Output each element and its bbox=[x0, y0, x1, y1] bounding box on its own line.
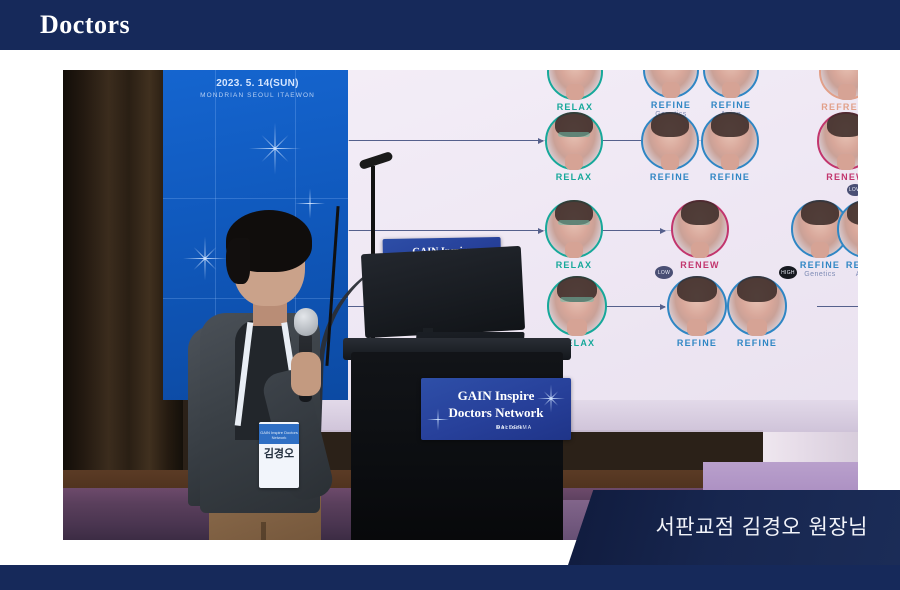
top-navy-bar: Doctors bbox=[0, 0, 900, 50]
sparkle-icon bbox=[249, 122, 301, 174]
slide-node-label: RENEW bbox=[817, 172, 858, 182]
node-band bbox=[558, 132, 590, 137]
speaker-hand bbox=[291, 352, 321, 396]
node-neck bbox=[565, 242, 583, 258]
slide-node-label: REFINE bbox=[703, 100, 759, 110]
slide-node bbox=[667, 276, 727, 336]
node-hair bbox=[827, 112, 858, 137]
caption-text: 서판교점 김경오 원장님 bbox=[655, 510, 868, 544]
slide-arrow bbox=[349, 230, 543, 231]
node-neck bbox=[838, 84, 856, 100]
node-neck bbox=[722, 82, 740, 98]
sparkle-icon bbox=[537, 384, 565, 412]
page-root: Doctors 40 50 bbox=[0, 0, 900, 590]
node-neck bbox=[687, 319, 706, 336]
slide-node-label: REFINE bbox=[667, 338, 727, 348]
slide-node-label: REFINE bbox=[837, 260, 858, 270]
node-neck bbox=[691, 242, 709, 258]
slide-chip-high: HIGH bbox=[779, 266, 797, 279]
node-neck bbox=[747, 319, 766, 336]
sparkle-icon bbox=[427, 408, 449, 430]
stage-monitor bbox=[361, 246, 525, 338]
slide-node bbox=[545, 200, 603, 258]
slide-node bbox=[643, 70, 699, 98]
slide-chip-low: LOW bbox=[847, 184, 858, 196]
node-neck bbox=[837, 154, 855, 170]
node-hair bbox=[801, 200, 840, 225]
node-band bbox=[558, 220, 590, 225]
slide-node-label: RELAX bbox=[545, 172, 603, 182]
badge-name: 김경오 bbox=[259, 448, 299, 461]
node-neck bbox=[566, 84, 584, 100]
badge-subtitle: GAIN Inspire Doctors Network bbox=[259, 430, 299, 440]
backdrop-date: 2023. 5. 14(SUN) bbox=[185, 78, 330, 89]
node-neck bbox=[567, 319, 586, 336]
slide-arrow bbox=[817, 306, 858, 307]
node-neck bbox=[721, 154, 739, 170]
handheld-microphone-head-icon bbox=[294, 308, 318, 336]
slide-node bbox=[547, 70, 603, 100]
node-hair bbox=[737, 276, 777, 302]
slide-node-label: REFINE bbox=[641, 172, 699, 182]
slide-node-label: REFRESH bbox=[819, 102, 858, 112]
event-photo: 40 50 RELAX REFINE Gene bbox=[63, 70, 858, 540]
brand-logo: Doctors bbox=[40, 11, 130, 39]
node-neck bbox=[661, 154, 679, 170]
slide-node-label: REFINE bbox=[701, 172, 759, 182]
node-neck bbox=[662, 82, 680, 98]
slide-node bbox=[727, 276, 787, 336]
speaker-name-badge: GAIN Inspire Doctors Network 김경오 bbox=[259, 422, 299, 488]
sparkle-icon bbox=[183, 236, 227, 280]
slide-node-label: RELAX bbox=[545, 260, 603, 270]
node-neck bbox=[811, 242, 829, 258]
slide-node bbox=[701, 112, 759, 170]
node-neck bbox=[565, 154, 583, 170]
slide-node bbox=[817, 112, 858, 170]
caption-banner: 서판교점 김경오 원장님 bbox=[568, 490, 900, 565]
speaker-pants-seam bbox=[261, 522, 266, 540]
slide-node bbox=[671, 200, 729, 258]
slide-node bbox=[547, 276, 607, 336]
node-band bbox=[560, 297, 594, 302]
sparkle-icon bbox=[295, 188, 325, 218]
slide-node-label: RENEW bbox=[671, 260, 729, 270]
slide-node-label: RELAX bbox=[547, 102, 603, 112]
backdrop-venue: MONDRIAN SEOUL ITAEWON bbox=[185, 92, 330, 99]
slide-node-label: REFINE bbox=[643, 100, 699, 110]
slide-node-sub: Aging bbox=[837, 271, 858, 278]
slide-node bbox=[545, 112, 603, 170]
node-neck bbox=[857, 242, 858, 258]
node-hair bbox=[711, 112, 750, 137]
slide-node bbox=[703, 70, 759, 98]
slide-node-label: REFINE bbox=[727, 338, 787, 348]
bottom-navy-bar bbox=[0, 565, 900, 590]
node-hair bbox=[847, 200, 858, 225]
slide-chip-low: LOW bbox=[655, 266, 673, 279]
slide-node bbox=[641, 112, 699, 170]
speaker-sideburn bbox=[226, 238, 250, 284]
slide-arrow bbox=[349, 140, 543, 141]
node-hair bbox=[651, 112, 690, 137]
podium-sign: GAIN Inspire Doctors Network Doctors × G… bbox=[421, 378, 571, 440]
node-hair bbox=[677, 276, 717, 302]
slide-node bbox=[819, 70, 858, 100]
podium-logo-galderma: GALDERMA bbox=[496, 425, 532, 431]
node-hair bbox=[681, 200, 720, 225]
